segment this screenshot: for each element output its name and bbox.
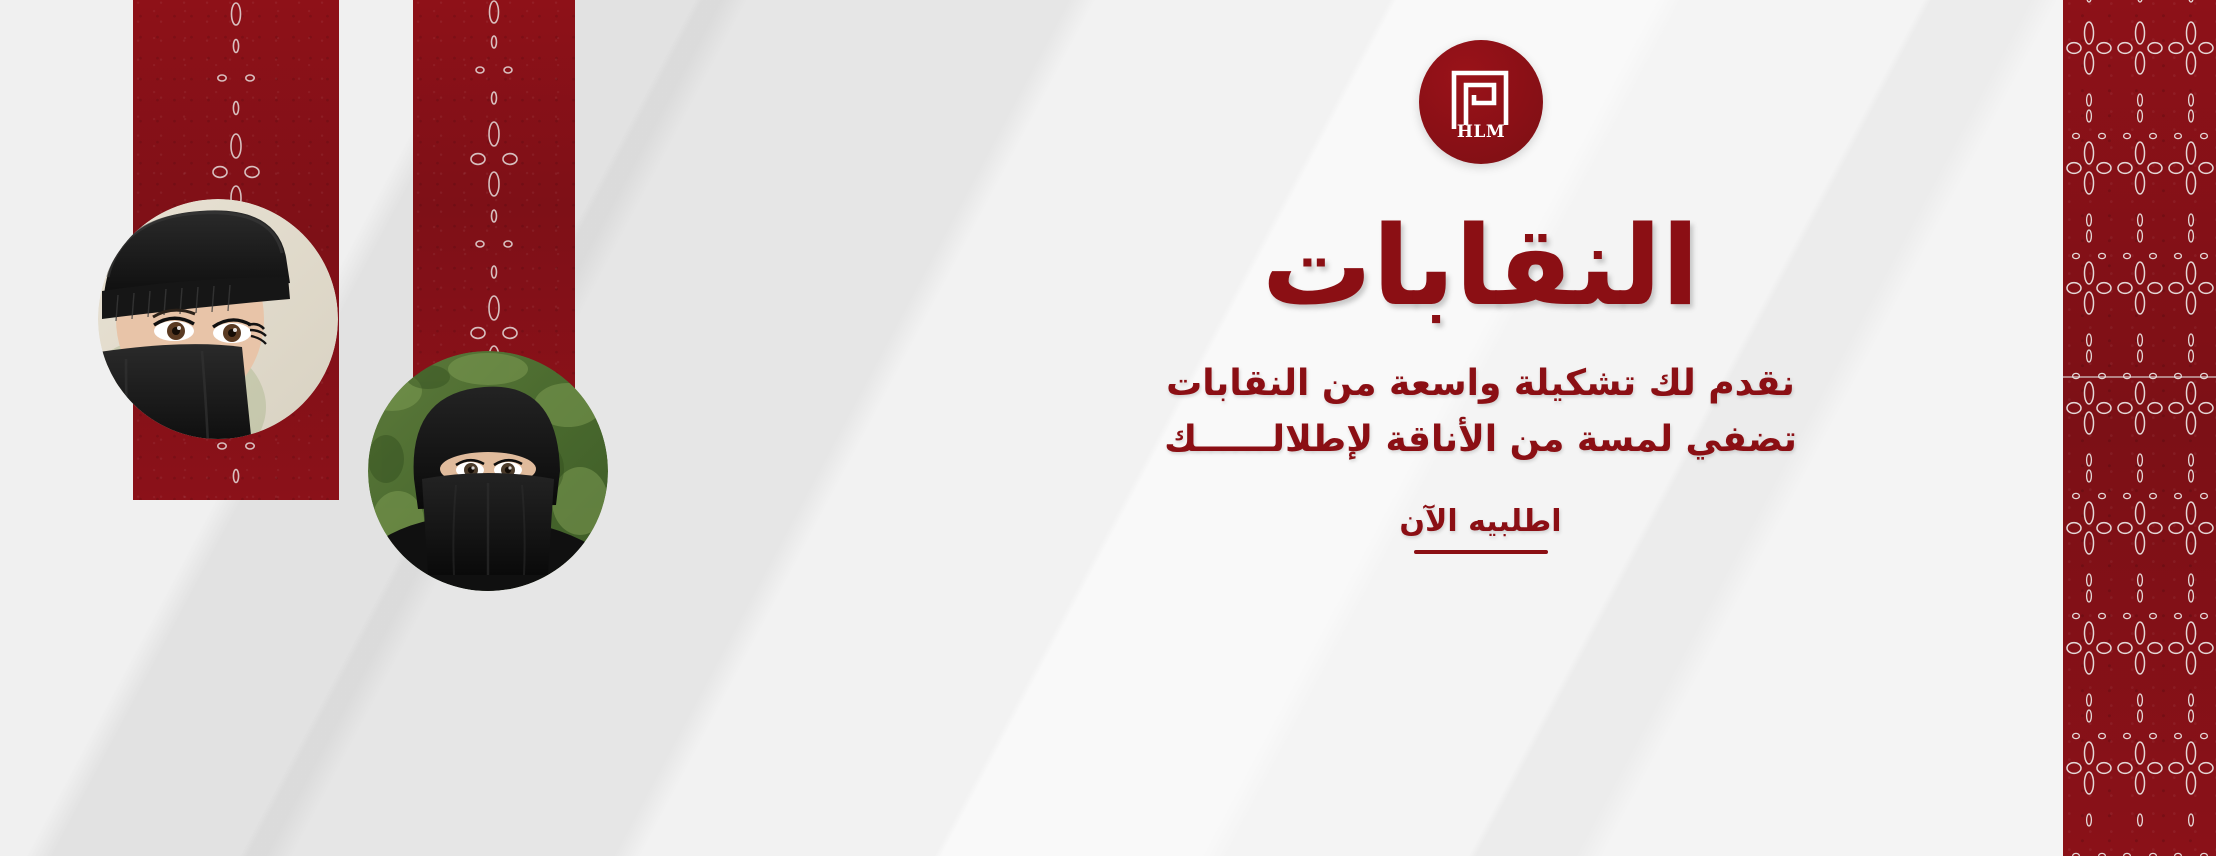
strip-seam-line	[2063, 376, 2216, 378]
model-photo-1	[98, 199, 338, 439]
ornament-strip	[2063, 0, 2216, 856]
order-now-label: اطلبيه الآن	[1399, 504, 1561, 539]
hlm-logo-text: HLM	[1456, 122, 1504, 141]
banner-content: HLM النقابات نقدم لك تشكيلة واسعة من الن…	[1128, 40, 1833, 554]
hlm-logo[interactable]: HLM	[1419, 40, 1543, 164]
promo-banner: HLM النقابات نقدم لك تشكيلة واسعة من الن…	[0, 0, 2216, 856]
subtitle: نقدم لك تشكيلة واسعة من النقابات تضفي لم…	[1128, 356, 1833, 468]
model-photo-2-art	[368, 351, 608, 591]
ornament-strip-motif	[2063, 0, 2216, 856]
page-title: النقابات	[1128, 210, 1833, 322]
order-now-underline	[1414, 550, 1548, 554]
hlm-logo-mark: HLM	[1444, 63, 1518, 141]
subtitle-line-1: نقدم لك تشكيلة واسعة من النقابات	[1128, 356, 1833, 412]
model-photo-2	[368, 351, 608, 591]
order-now-button[interactable]: اطلبيه الآن	[1399, 504, 1561, 554]
model-photo-1-art	[98, 199, 338, 439]
subtitle-line-2: تضفي لمسة من الأناقة لإطلالــــــك	[1128, 412, 1833, 468]
